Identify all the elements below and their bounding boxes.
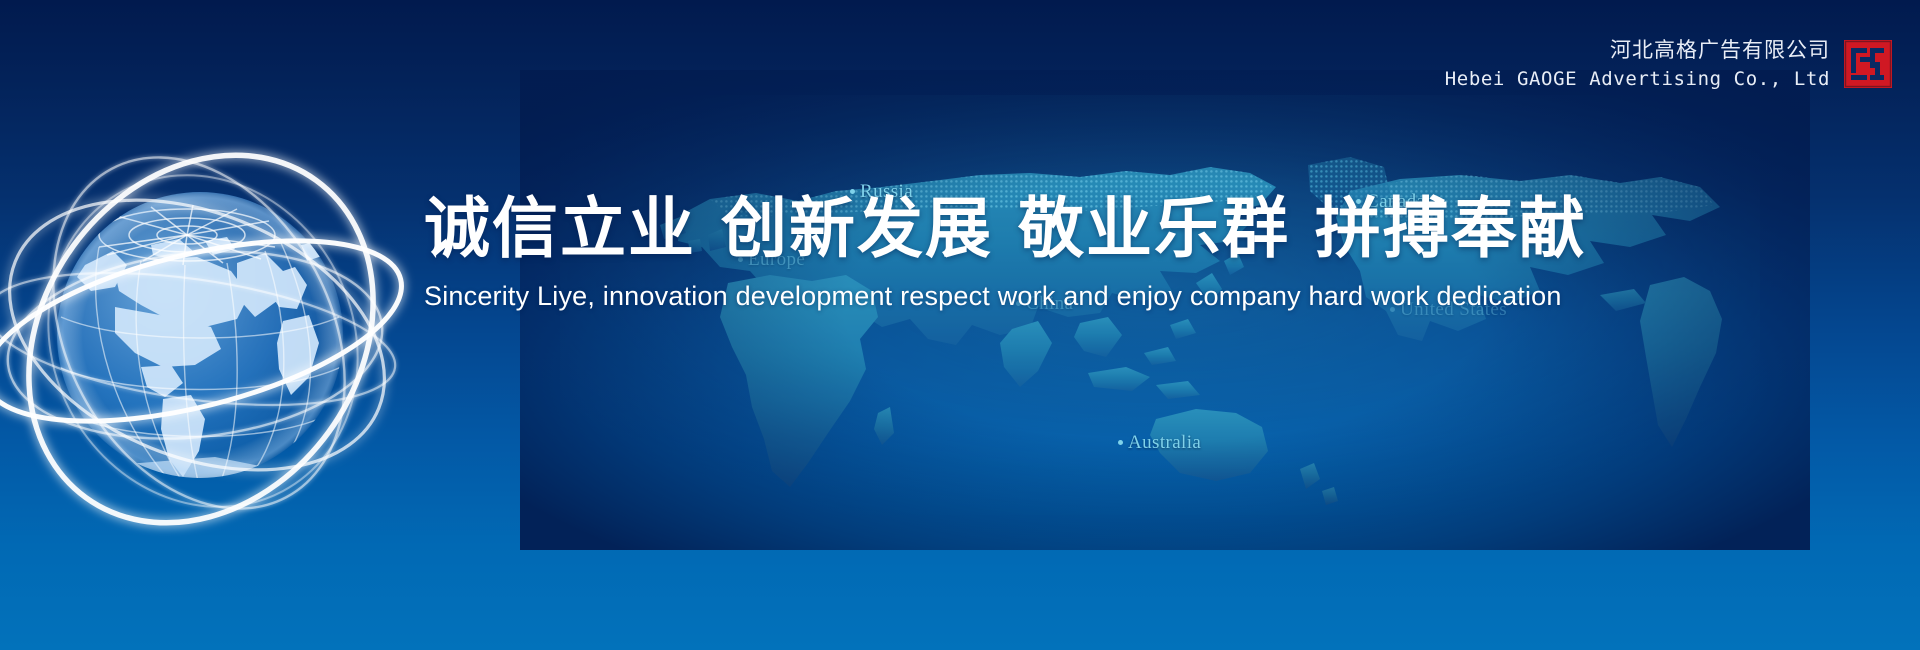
map-pin-dot (1118, 440, 1123, 445)
map-label-australia: Australia (1118, 432, 1201, 454)
slogan-chinese: 诚信立业 创新发展 敬业乐群 拼搏奉献 (424, 196, 1864, 262)
company-name-chinese: 河北高格广告有限公司 (1445, 36, 1830, 66)
slogan-english: Sincerity Liye, innovation development r… (424, 282, 1864, 312)
globe-network-graphic (0, 95, 435, 565)
company-name-english: Hebei GAOGE Advertising Co., Ltd (1445, 66, 1830, 93)
slogan-block: 诚信立业 创新发展 敬业乐群 拼搏奉献 Sincerity Liye, inno… (424, 196, 1864, 312)
company-banner: Russia Canada Europe China United States… (0, 0, 1920, 650)
gaoge-logo-icon (1844, 40, 1892, 88)
company-name-block: 河北高格广告有限公司 Hebei GAOGE Advertising Co., … (1445, 36, 1830, 93)
company-header: 河北高格广告有限公司 Hebei GAOGE Advertising Co., … (1445, 36, 1892, 93)
